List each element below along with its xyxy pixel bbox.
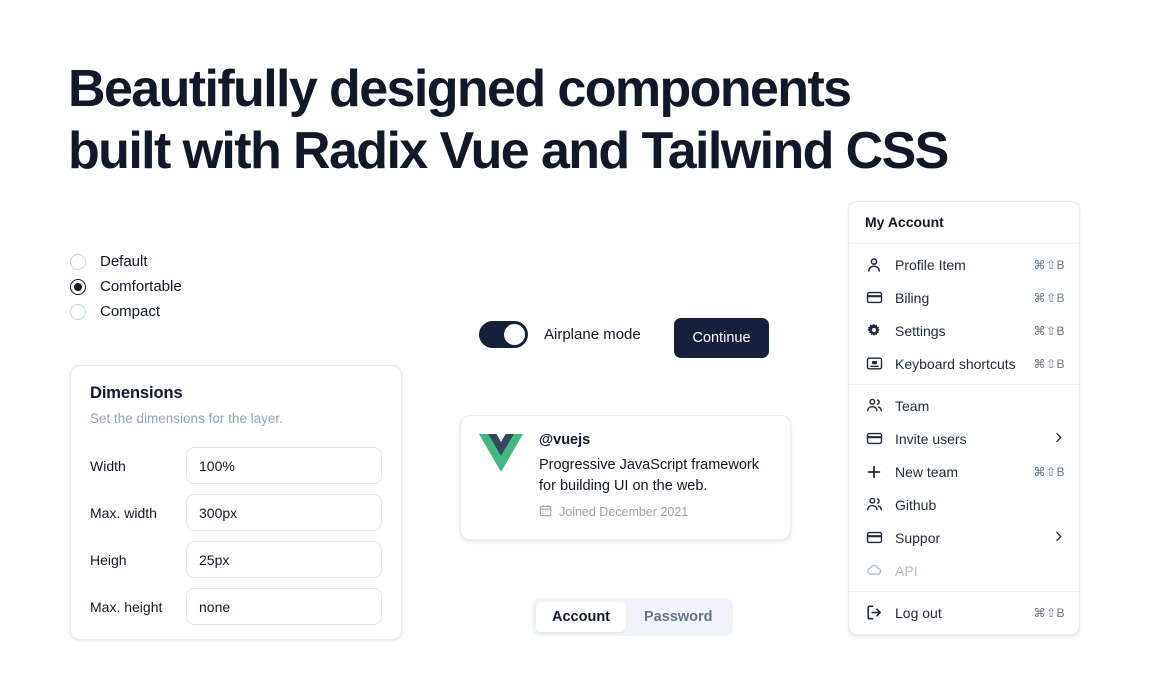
- menu-item-label: API: [895, 563, 1065, 579]
- credit-card-icon: [865, 529, 883, 547]
- menu-item-new-team[interactable]: New team⌘⇧B: [849, 455, 1079, 488]
- menu-item-label: New team: [895, 464, 1033, 480]
- chevron-right-icon: [1052, 530, 1065, 545]
- menu-item-label: Profile Item: [895, 257, 1033, 273]
- tab-account[interactable]: Account: [536, 602, 626, 632]
- airplane-mode-switch[interactable]: [479, 321, 528, 348]
- menu-label: My Account: [849, 207, 1079, 239]
- menu-item-label: Log out: [895, 605, 1033, 621]
- menu-item-settings[interactable]: Settings⌘⇧B: [849, 314, 1079, 347]
- chevron-right-icon: [1052, 431, 1065, 446]
- menu-item-label: Invite users: [895, 431, 1052, 447]
- dimension-row: Width: [90, 442, 382, 489]
- menu-item-invite-users[interactable]: Invite users: [849, 422, 1079, 455]
- radio-option-comfortable[interactable]: Comfortable: [70, 274, 182, 299]
- menu-item-shortcut: ⌘⇧B: [1033, 324, 1065, 338]
- calendar-icon: [539, 504, 552, 520]
- menu-item-shortcut: ⌘⇧B: [1033, 258, 1065, 272]
- radio-option-compact[interactable]: Compact: [70, 299, 182, 324]
- hover-card-description: Progressive JavaScript framework for bui…: [539, 455, 772, 497]
- menu-item-team[interactable]: Team: [849, 389, 1079, 422]
- dimension-label: Max. height: [90, 599, 186, 615]
- menu-item-label: Suppor: [895, 530, 1052, 546]
- vue-logo-icon: [479, 434, 523, 478]
- menu-item-keyboard-shortcuts[interactable]: Keyboard shortcuts⌘⇧B: [849, 347, 1079, 380]
- dimension-label: Width: [90, 458, 186, 474]
- dimension-input-heigh[interactable]: [186, 541, 382, 578]
- density-radio-group: DefaultComfortableCompact: [70, 249, 182, 324]
- plus-icon: [865, 463, 883, 481]
- menu-item-shortcut: ⌘⇧B: [1033, 357, 1065, 371]
- dimension-label: Max. width: [90, 505, 186, 521]
- menu-item-shortcut: ⌘⇧B: [1033, 606, 1065, 620]
- account-dropdown-menu: My Account Profile Item⌘⇧BBiling⌘⇧BSetti…: [848, 201, 1080, 635]
- dimension-input-max-width[interactable]: [186, 494, 382, 531]
- user-icon: [865, 256, 883, 274]
- menu-item-profile-item[interactable]: Profile Item⌘⇧B: [849, 248, 1079, 281]
- menu-item-label: Keyboard shortcuts: [895, 356, 1033, 372]
- hero-section: Beautifully designed components built wi…: [68, 58, 1048, 182]
- menu-group-list: Profile Item⌘⇧BBiling⌘⇧BSettings⌘⇧BKeybo…: [849, 248, 1079, 629]
- users-icon: [865, 397, 883, 415]
- menu-item-biling[interactable]: Biling⌘⇧B: [849, 281, 1079, 314]
- radio-label: Comfortable: [100, 278, 182, 295]
- radio-label: Default: [100, 253, 148, 270]
- menu-separator: [849, 243, 1079, 244]
- menu-separator: [849, 591, 1079, 592]
- page-title-line-1: Beautifully designed components: [68, 60, 851, 118]
- logout-icon: [865, 604, 883, 622]
- airplane-mode-row: Airplane mode: [479, 321, 641, 348]
- radio-indicator[interactable]: [70, 254, 86, 270]
- menu-item-label: Team: [895, 398, 1065, 414]
- menu-item-log-out[interactable]: Log out⌘⇧B: [849, 596, 1079, 629]
- dimension-input-width[interactable]: [186, 447, 382, 484]
- menu-item-shortcut: ⌘⇧B: [1033, 465, 1065, 479]
- page-root: Beautifully designed components built wi…: [0, 0, 1152, 700]
- hover-card-handle: @vuejs: [539, 432, 772, 448]
- dimensions-card: Dimensions Set the dimensions for the la…: [70, 365, 402, 640]
- dimension-label: Heigh: [90, 552, 186, 568]
- dimension-input-max-height[interactable]: [186, 588, 382, 625]
- radio-label: Compact: [100, 303, 160, 320]
- menu-item-suppor[interactable]: Suppor: [849, 521, 1079, 554]
- vue-hover-card: @vuejs Progressive JavaScript framework …: [460, 415, 791, 540]
- users-icon: [865, 496, 883, 514]
- dimensions-field-list: WidthMax. widthHeighMax. height: [90, 442, 382, 630]
- dimensions-card-title: Dimensions: [90, 384, 382, 403]
- hover-card-joined: Joined December 2021: [539, 504, 772, 520]
- credit-card-icon: [865, 430, 883, 448]
- switch-knob: [504, 324, 525, 345]
- dimension-row: Max. width: [90, 489, 382, 536]
- menu-item-label: Biling: [895, 290, 1033, 306]
- page-title-line-2: built with Radix Vue and Tailwind CSS: [68, 120, 1048, 182]
- page-title: Beautifully designed components built wi…: [68, 58, 1048, 182]
- menu-item-github[interactable]: Github: [849, 488, 1079, 521]
- gear-icon: [865, 322, 883, 340]
- menu-separator: [849, 384, 1079, 385]
- keyboard-icon: [865, 355, 883, 373]
- menu-item-label: Github: [895, 497, 1065, 513]
- menu-item-api: API: [849, 554, 1079, 587]
- dimension-row: Heigh: [90, 536, 382, 583]
- continue-button[interactable]: Continue: [674, 318, 769, 358]
- hover-card-body: @vuejs Progressive JavaScript framework …: [539, 432, 772, 523]
- radio-indicator[interactable]: [70, 304, 86, 320]
- dimensions-card-subtitle: Set the dimensions for the layer.: [90, 411, 382, 426]
- cloud-icon: [865, 562, 883, 580]
- airplane-mode-label: Airplane mode: [544, 326, 641, 343]
- radio-option-default[interactable]: Default: [70, 249, 182, 274]
- radio-indicator[interactable]: [70, 279, 86, 295]
- credit-card-icon: [865, 289, 883, 307]
- dimension-row: Max. height: [90, 583, 382, 630]
- tab-password[interactable]: Password: [628, 602, 729, 632]
- menu-item-label: Settings: [895, 323, 1033, 339]
- settings-tabs: AccountPassword: [532, 598, 733, 636]
- hover-card-joined-text: Joined December 2021: [559, 505, 688, 519]
- menu-item-shortcut: ⌘⇧B: [1033, 291, 1065, 305]
